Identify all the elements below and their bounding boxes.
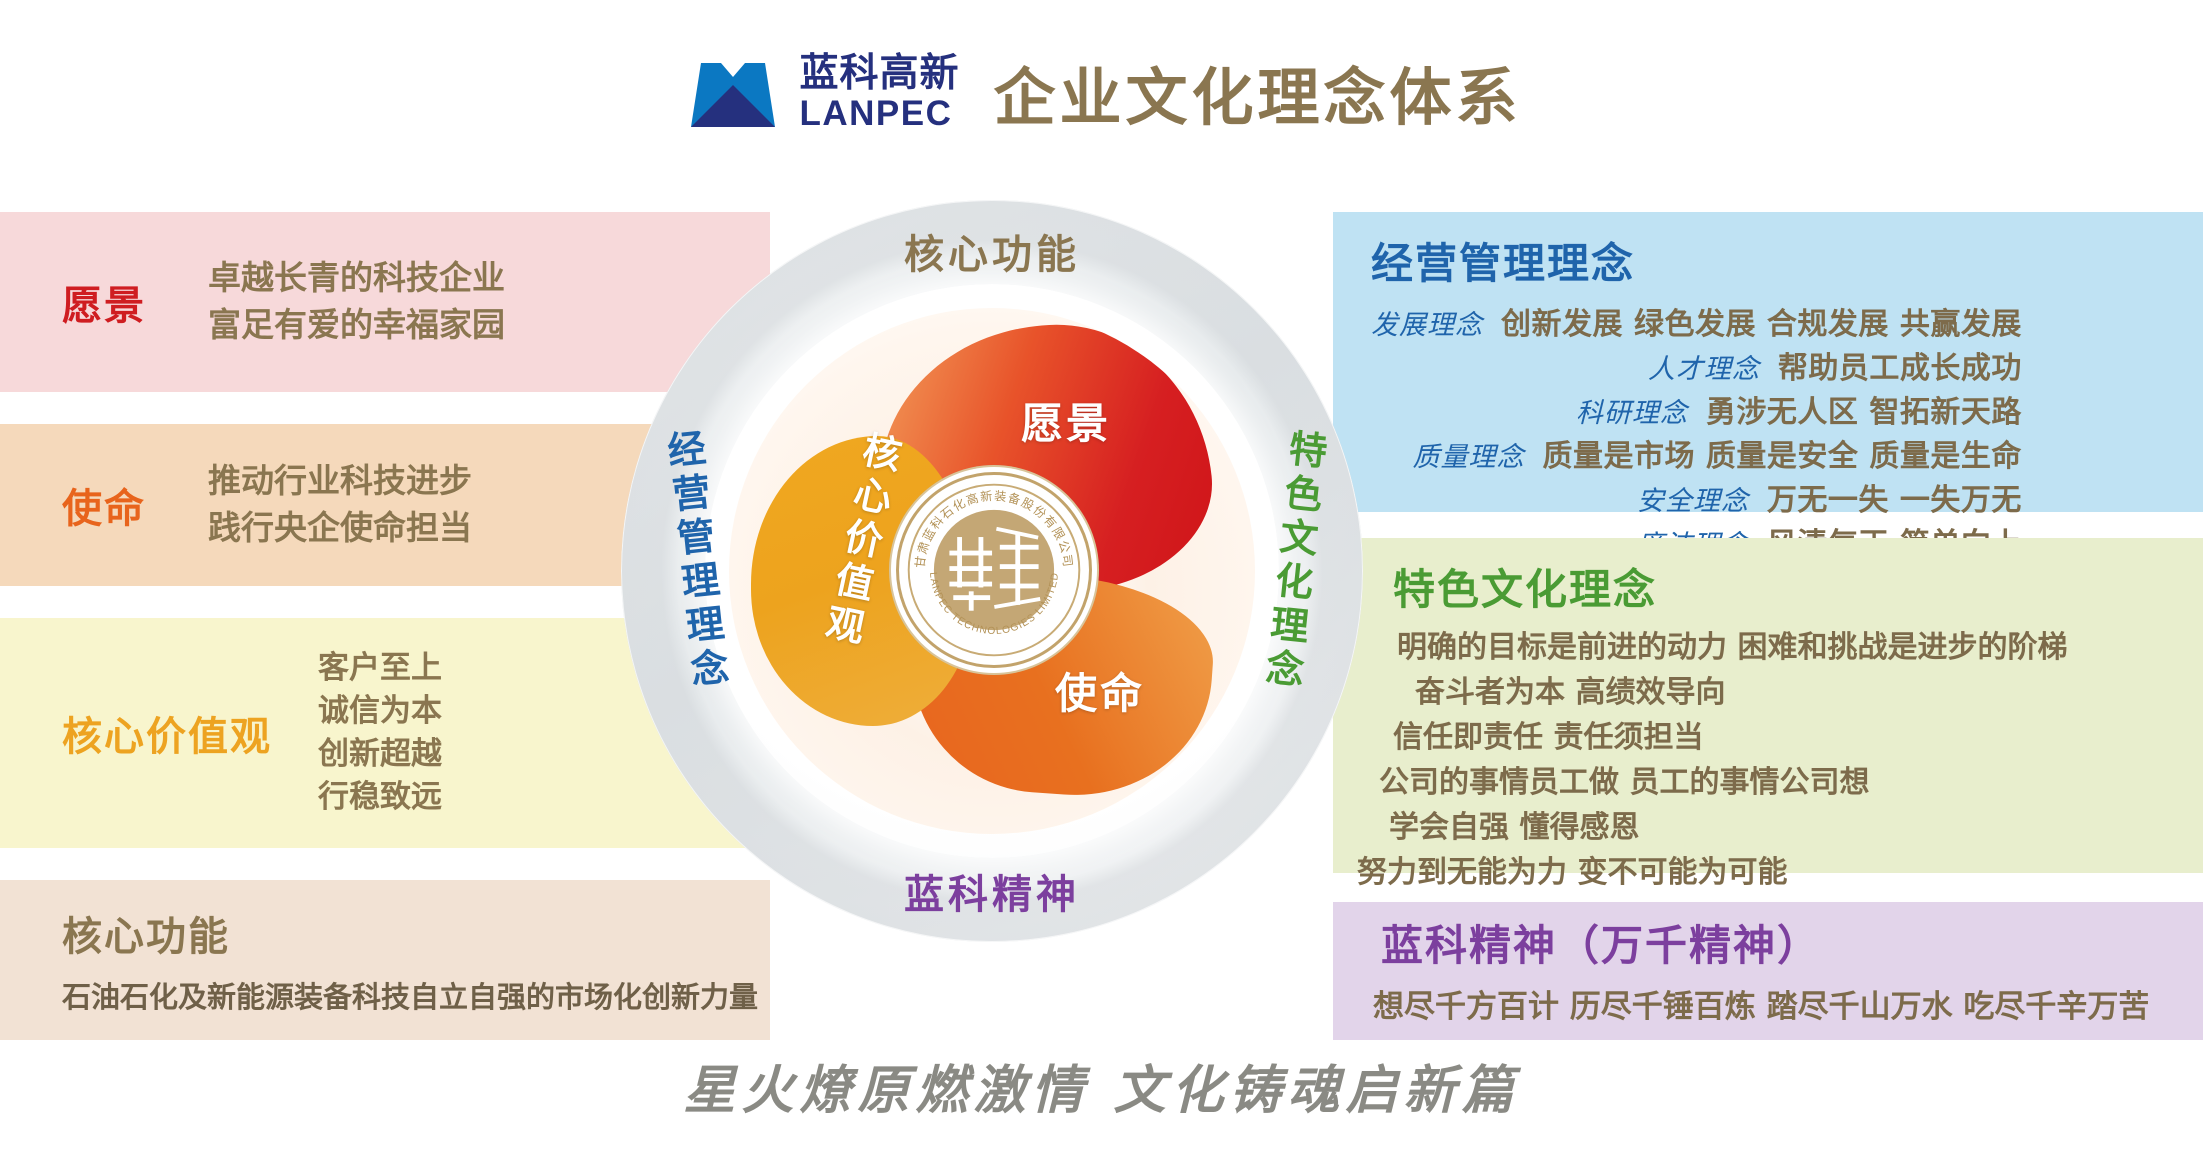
culture-line: 公司的事情员工做 员工的事情公司想 — [1379, 760, 1869, 805]
management-row-value: 质量是市场 质量是安全 质量是生命 — [1542, 431, 2021, 475]
panel-management-concepts: 经营管理理念 发展理念 创新发展 绿色发展 合规发展 共赢发展 人才理念 帮助员… — [1333, 212, 2203, 512]
panel-core-values-label: 核心价值观 — [62, 704, 272, 762]
culture-line: 信任即责任 责任须担当 — [1393, 715, 1703, 760]
management-row-value: 勇涉无人区 智拓新天路 — [1706, 387, 2022, 431]
ring-label-management-text: 经营管理理念 — [654, 427, 736, 695]
management-row-value: 帮助员工成长成功 — [1778, 343, 2022, 387]
ring-label-lanpec-spirit: 蓝科精神 — [621, 862, 1363, 920]
culture-circle-diagram: 核心功能 蓝科精神 经营管理理念 特色文化理念 愿景 使命 核心价值观 — [621, 200, 1363, 942]
panel-vision-line: 富足有爱的幸福家园 — [208, 302, 505, 349]
culture-lines: 明确的目标是前进的动力 困难和挑战是进步的阶梯 奋斗者为本 高绩效导向 信任即责… — [1371, 625, 2067, 895]
panel-culture-title: 特色文化理念 — [1393, 556, 2067, 617]
management-row: 科研理念 勇涉无人区 智拓新天路 — [1576, 387, 2022, 431]
culture-line: 努力到无能为力 变不可能为可能 — [1357, 850, 1787, 895]
management-row-key: 科研理念 — [1576, 391, 1688, 430]
panel-mission-lines: 推动行业科技进步 践行央企使命担当 — [208, 458, 472, 552]
panel-core-values-lines: 客户至上 诚信为本 创新超越 行稳致远 — [318, 647, 442, 818]
diagram-inner-disc: 愿景 使命 核心价值观 — [729, 308, 1255, 834]
panel-culture-concepts: 特色文化理念 明确的目标是前进的动力 困难和挑战是进步的阶梯 奋斗者为本 高绩效… — [1333, 538, 2203, 873]
management-row-value: 万无一失 一失万无 — [1767, 475, 2022, 519]
lobe-vision-label: 愿景 — [1021, 390, 1111, 451]
management-row-key: 质量理念 — [1412, 435, 1524, 474]
panel-core-values-line: 客户至上 — [318, 647, 442, 690]
panel-core-function-description: 石油石化及新能源装备科技自立自强的市场化创新力量 — [62, 974, 758, 1016]
culture-line: 明确的目标是前进的动力 困难和挑战是进步的阶梯 — [1397, 625, 2067, 670]
panel-vision-line: 卓越长青的科技企业 — [208, 255, 505, 302]
management-row: 发展理念 创新发展 绿色发展 合规发展 共赢发展 — [1371, 299, 2022, 343]
culture-line: 奋斗者为本 高绩效导向 — [1415, 670, 1725, 715]
ring-label-culture-text: 特色文化理念 — [1252, 427, 1334, 695]
company-seal: 甘肃蓝科石化高新装备股份有限公司 LANPEC TECHNOLOGIES LIM… — [896, 472, 1092, 668]
logo-wordmark: 蓝科高新 LANPEC — [799, 54, 959, 131]
panel-mission-line: 推动行业科技进步 — [208, 458, 472, 505]
panel-spirit-title: 蓝科精神（万千精神） — [1381, 912, 2149, 973]
page-title: 企业文化理念体系 — [994, 47, 1522, 137]
management-row: 安全理念 万无一失 一失万无 — [1637, 475, 2022, 519]
page-header: 蓝科高新 LANPEC 企业文化理念体系 — [0, 44, 2203, 140]
panel-management-title: 经营管理理念 — [1371, 230, 2044, 291]
panel-mission-line: 践行央企使命担当 — [208, 505, 472, 552]
panel-spirit-line: 想尽千方百计 历尽千锤百炼 踏尽千山万水 吃尽千辛万苦 — [1373, 981, 2149, 1026]
culture-line: 学会自强 懂得感恩 — [1389, 805, 1639, 850]
management-rows: 发展理念 创新发展 绿色发展 合规发展 共赢发展 人才理念 帮助员工成长成功 科… — [1371, 299, 2044, 563]
footer-slogan: 星火燎原燃激情 文化铸魂启新篇 — [0, 1048, 2203, 1123]
logo-chinese-name: 蓝科高新 — [799, 54, 959, 93]
panel-core-values-line: 行稳致远 — [318, 776, 442, 819]
company-logo: 蓝科高新 LANPEC — [681, 53, 959, 131]
management-row-key: 安全理念 — [1637, 479, 1749, 518]
panel-vision-lines: 卓越长青的科技企业 富足有爱的幸福家园 — [208, 255, 505, 349]
management-row-key: 人才理念 — [1648, 347, 1760, 386]
lobe-mission-label: 使命 — [1055, 660, 1145, 721]
logo-english-name: LANPEC — [799, 96, 959, 131]
ring-label-core-function: 核心功能 — [621, 222, 1363, 280]
panel-mission-label: 使命 — [62, 476, 146, 534]
company-seal-graphic: 甘肃蓝科石化高新装备股份有限公司 LANPEC TECHNOLOGIES LIM… — [899, 475, 1089, 665]
management-row-value: 创新发展 绿色发展 合规发展 共赢发展 — [1501, 299, 2022, 343]
management-row-key: 发展理念 — [1371, 303, 1483, 342]
panel-core-values-line: 创新超越 — [318, 733, 442, 776]
panel-lanpec-spirit: 蓝科精神（万千精神） 想尽千方百计 历尽千锤百炼 踏尽千山万水 吃尽千辛万苦 — [1333, 902, 2203, 1040]
management-row: 人才理念 帮助员工成长成功 — [1648, 343, 2022, 387]
management-row: 质量理念 质量是市场 质量是安全 质量是生命 — [1412, 431, 2021, 475]
panel-core-values-line: 诚信为本 — [318, 690, 442, 733]
mountain-logo-icon — [681, 53, 785, 131]
panel-vision-label: 愿景 — [62, 273, 146, 331]
